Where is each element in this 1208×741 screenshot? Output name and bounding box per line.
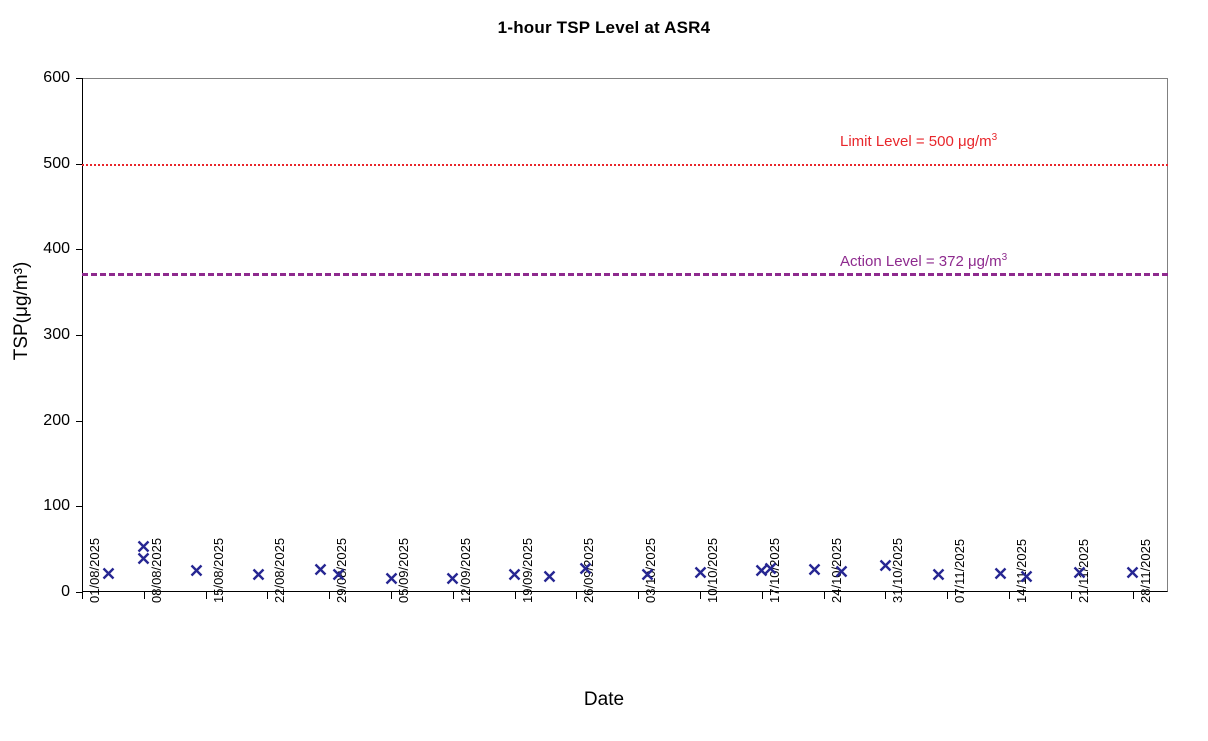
- x-tick-label: 19/09/2025: [520, 538, 535, 603]
- x-tick-label: 24/10/2025: [829, 538, 844, 603]
- x-tick-label: 26/09/2025: [581, 538, 596, 603]
- y-tick-label: 100: [10, 497, 70, 515]
- x-tick-label: 29/08/2025: [334, 538, 349, 603]
- x-tick-label: 15/08/2025: [211, 538, 226, 603]
- action-level-label: Action Level = 372 μg/m3: [840, 252, 1007, 270]
- x-tick-mark: [947, 592, 948, 599]
- action-level-line: [82, 273, 1168, 276]
- x-tick-mark: [515, 592, 516, 599]
- limit-level-label: Limit Level = 500 μg/m3: [840, 132, 997, 150]
- x-tick-label: 12/09/2025: [458, 538, 473, 603]
- x-tick-label: 10/10/2025: [705, 538, 720, 603]
- x-tick-label: 08/08/2025: [149, 538, 164, 603]
- x-tick-label: 05/09/2025: [396, 538, 411, 603]
- limit-level-line: [82, 164, 1168, 166]
- x-tick-mark: [329, 592, 330, 599]
- y-axis-title: TSP(μg/m³): [11, 141, 33, 481]
- tsp-scatter-chart: 1-hour TSP Level at ASR4 010020030040050…: [0, 0, 1208, 741]
- x-tick-mark: [206, 592, 207, 599]
- y-tick-mark: [76, 335, 83, 336]
- x-tick-mark: [144, 592, 145, 599]
- x-tick-mark: [824, 592, 825, 599]
- x-tick-label: 17/10/2025: [767, 538, 782, 603]
- x-tick-mark: [391, 592, 392, 599]
- y-tick-mark: [76, 506, 83, 507]
- x-tick-mark: [1009, 592, 1010, 599]
- x-tick-label: 07/11/2025: [952, 539, 967, 603]
- x-tick-mark: [762, 592, 763, 599]
- x-axis-title: Date: [0, 689, 1208, 711]
- x-tick-mark: [267, 592, 268, 599]
- x-tick-label: 22/08/2025: [272, 538, 287, 603]
- x-tick-label: 14/11/2025: [1014, 539, 1029, 603]
- x-tick-mark: [453, 592, 454, 599]
- x-tick-mark: [1133, 592, 1134, 599]
- x-tick-label: 21/11/2025: [1076, 539, 1091, 603]
- x-tick-mark: [638, 592, 639, 599]
- chart-title: 1-hour TSP Level at ASR4: [0, 18, 1208, 38]
- x-tick-mark: [1071, 592, 1072, 599]
- x-tick-label: 03/10/2025: [643, 538, 658, 603]
- y-tick-mark: [76, 249, 83, 250]
- y-tick-label: 0: [10, 583, 70, 601]
- x-tick-mark: [576, 592, 577, 599]
- x-tick-label: 28/11/2025: [1138, 539, 1153, 603]
- y-tick-label: 600: [10, 69, 70, 87]
- x-tick-mark: [700, 592, 701, 599]
- y-tick-mark: [76, 421, 83, 422]
- x-tick-label: 01/08/2025: [87, 538, 102, 603]
- plot-area: [82, 78, 1168, 592]
- y-tick-mark: [76, 78, 83, 79]
- x-tick-label: 31/10/2025: [890, 538, 905, 603]
- x-tick-mark: [82, 592, 83, 599]
- x-tick-mark: [885, 592, 886, 599]
